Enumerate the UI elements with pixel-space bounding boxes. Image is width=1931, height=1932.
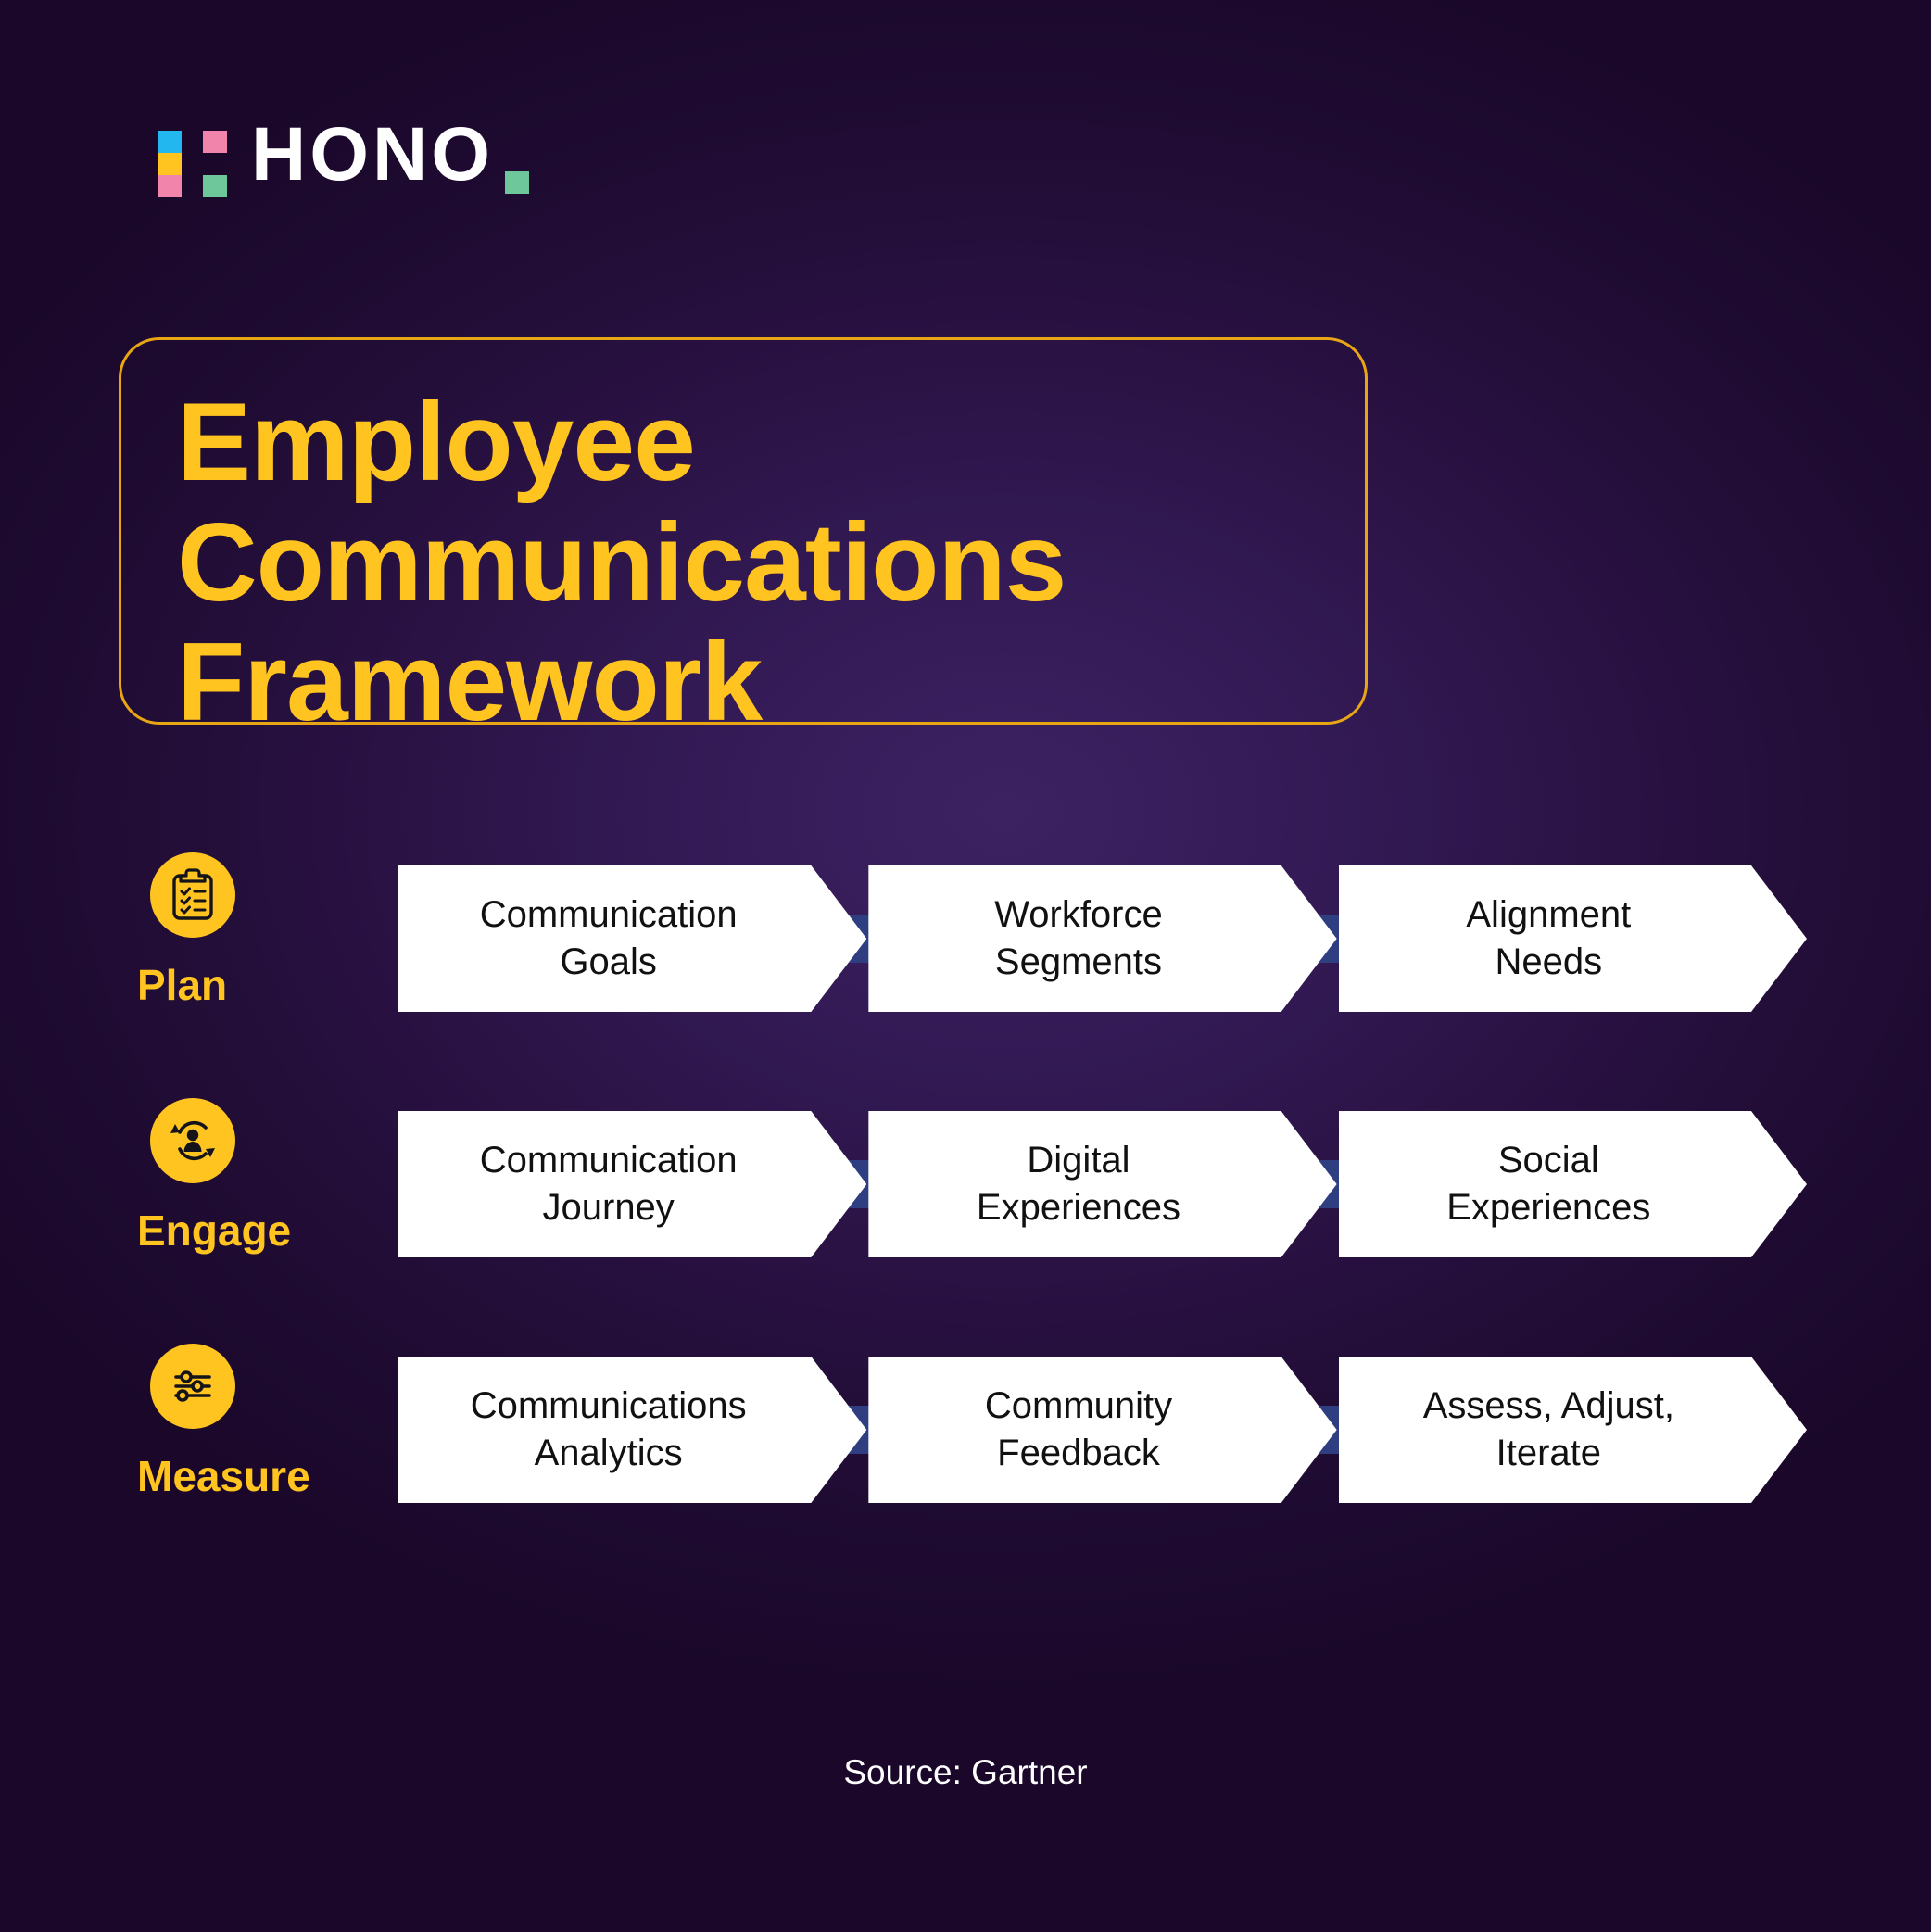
step-label: Alignment Needs [1466,891,1679,986]
step-label: Communication Goals [480,891,786,986]
title-panel: Employee Communications Framework [119,337,1368,725]
framework-row-measure: Measure Communications Analytics Communi… [0,1344,1931,1589]
stage-engage: Engage [137,1098,387,1325]
step-label-line2: Segments [995,941,1162,982]
step-label: Social Experiences [1446,1137,1698,1231]
step-chevron[interactable]: Communication Goals [398,865,866,1012]
logo-wordmark: HONO [251,122,494,188]
step-label-line1: Assess, Adjust, [1423,1385,1674,1426]
step-label: Community Feedback [985,1383,1220,1477]
step-label-line1: Digital [1027,1140,1130,1181]
source-attribution: Source: Gartner [0,1753,1931,1792]
stage-label-plan: Plan [137,960,387,1010]
page-title: Employee Communications Framework [177,383,1326,743]
step-label-line1: Workforce [994,894,1163,935]
stage-label-measure: Measure [137,1451,387,1501]
step-chevron[interactable]: Assess, Adjust, Iterate [1339,1357,1807,1503]
logo-square-pink-top [203,131,227,153]
step-label-line2: Journey [543,1187,675,1228]
step-label-line1: Community [985,1385,1172,1426]
logo-dot-square-green [505,171,529,194]
logo-square-gold [158,153,182,175]
step-label-line2: Goals [560,941,657,982]
step-label-line2: Experiences [977,1187,1180,1228]
step-label: Assess, Adjust, Iterate [1423,1383,1723,1477]
step-label-line2: Feedback [997,1433,1160,1473]
step-chevron[interactable]: Workforce Segments [868,865,1336,1012]
step-label: Digital Experiences [977,1137,1229,1231]
step-label: Communication Journey [480,1137,786,1231]
logo-mark-column-right [203,131,227,197]
framework-row-plan: Plan Communication Goals Workforce Segme… [0,852,1931,1098]
infographic-page: HONO Employee Communications Framework [0,0,1931,1932]
step-label-line1: Alignment [1466,894,1631,935]
step-label-line1: Communication [480,894,738,935]
step-chevron[interactable]: Communications Analytics [398,1357,866,1503]
step-chevron[interactable]: Communication Journey [398,1111,866,1257]
logo-mark-column-left [158,131,182,197]
stage-label-engage: Engage [137,1206,387,1256]
step-label: Workforce Segments [994,891,1211,986]
step-label-line1: Social [1498,1140,1599,1181]
step-label-line2: Analytics [535,1433,683,1473]
hono-logo: HONO [158,128,529,197]
step-track-plan: Communication Goals Workforce Segments A… [398,865,1807,1012]
framework-row-engage: Engage Communication Journey Digital Exp… [0,1098,1931,1344]
stage-measure: Measure [137,1344,387,1571]
step-track-engage: Communication Journey Digital Experience… [398,1111,1807,1257]
logo-mark [158,131,227,197]
logo-square-gap [203,153,227,175]
step-track-measure: Communications Analytics Community Feedb… [398,1357,1807,1503]
step-chevron[interactable]: Alignment Needs [1339,865,1807,1012]
step-chevron[interactable]: Community Feedback [868,1357,1336,1503]
step-label-line2: Iterate [1496,1433,1601,1473]
step-chevron[interactable]: Social Experiences [1339,1111,1807,1257]
logo-square-green [203,175,227,197]
step-label-line1: Communications [471,1385,747,1426]
logo-square-pink [158,175,182,197]
framework-diagram: Plan Communication Goals Workforce Segme… [0,852,1931,1589]
step-label: Communications Analytics [471,1383,795,1477]
person-cycle-icon [150,1098,235,1183]
step-label-line1: Communication [480,1140,738,1181]
step-chevron[interactable]: Digital Experiences [868,1111,1336,1257]
stage-plan: Plan [137,852,387,1080]
step-label-line2: Needs [1496,941,1603,982]
step-label-line2: Experiences [1446,1187,1650,1228]
logo-square-blue [158,131,182,153]
sliders-settings-icon [150,1344,235,1429]
clipboard-checklist-icon [150,852,235,938]
